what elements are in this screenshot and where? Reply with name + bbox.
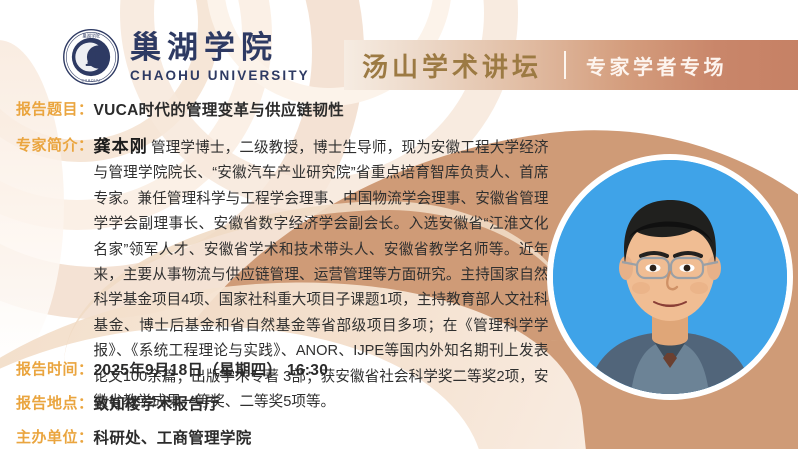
report-title-label: 报告题目： <box>16 98 94 119</box>
lecture-poster: 巢湖学院 CHAOHU 巢湖学院 CHAOHU UNIVERSITY 汤山学术讲… <box>0 0 798 449</box>
report-time-label: 报告时间： <box>16 358 94 379</box>
organizer-value: 科研处、工商管理学院 <box>94 426 252 448</box>
report-place-value: 致知楼学术报告厅 <box>94 392 220 414</box>
report-time-row: 报告时间： 2025年9月18日（星期四） 16:30 <box>16 358 328 380</box>
speaker-bio-label: 专家简介： <box>16 134 94 155</box>
speaker-portrait-photo <box>553 160 787 394</box>
report-title-row: 报告题目： VUCA时代的管理变革与供应链韧性 <box>16 98 344 120</box>
report-title-value: VUCA时代的管理变革与供应链韧性 <box>94 98 345 120</box>
organizer-label: 主办单位： <box>16 426 94 447</box>
organizer-row: 主办单位： 科研处、工商管理学院 <box>16 426 252 448</box>
report-place-label: 报告地点： <box>16 392 94 413</box>
report-place-row: 报告地点： 致知楼学术报告厅 <box>16 392 220 414</box>
report-time-value: 2025年9月18日（星期四） 16:30 <box>94 358 329 380</box>
speaker-name: 龚本刚 <box>94 137 148 156</box>
speaker-portrait <box>553 160 787 394</box>
